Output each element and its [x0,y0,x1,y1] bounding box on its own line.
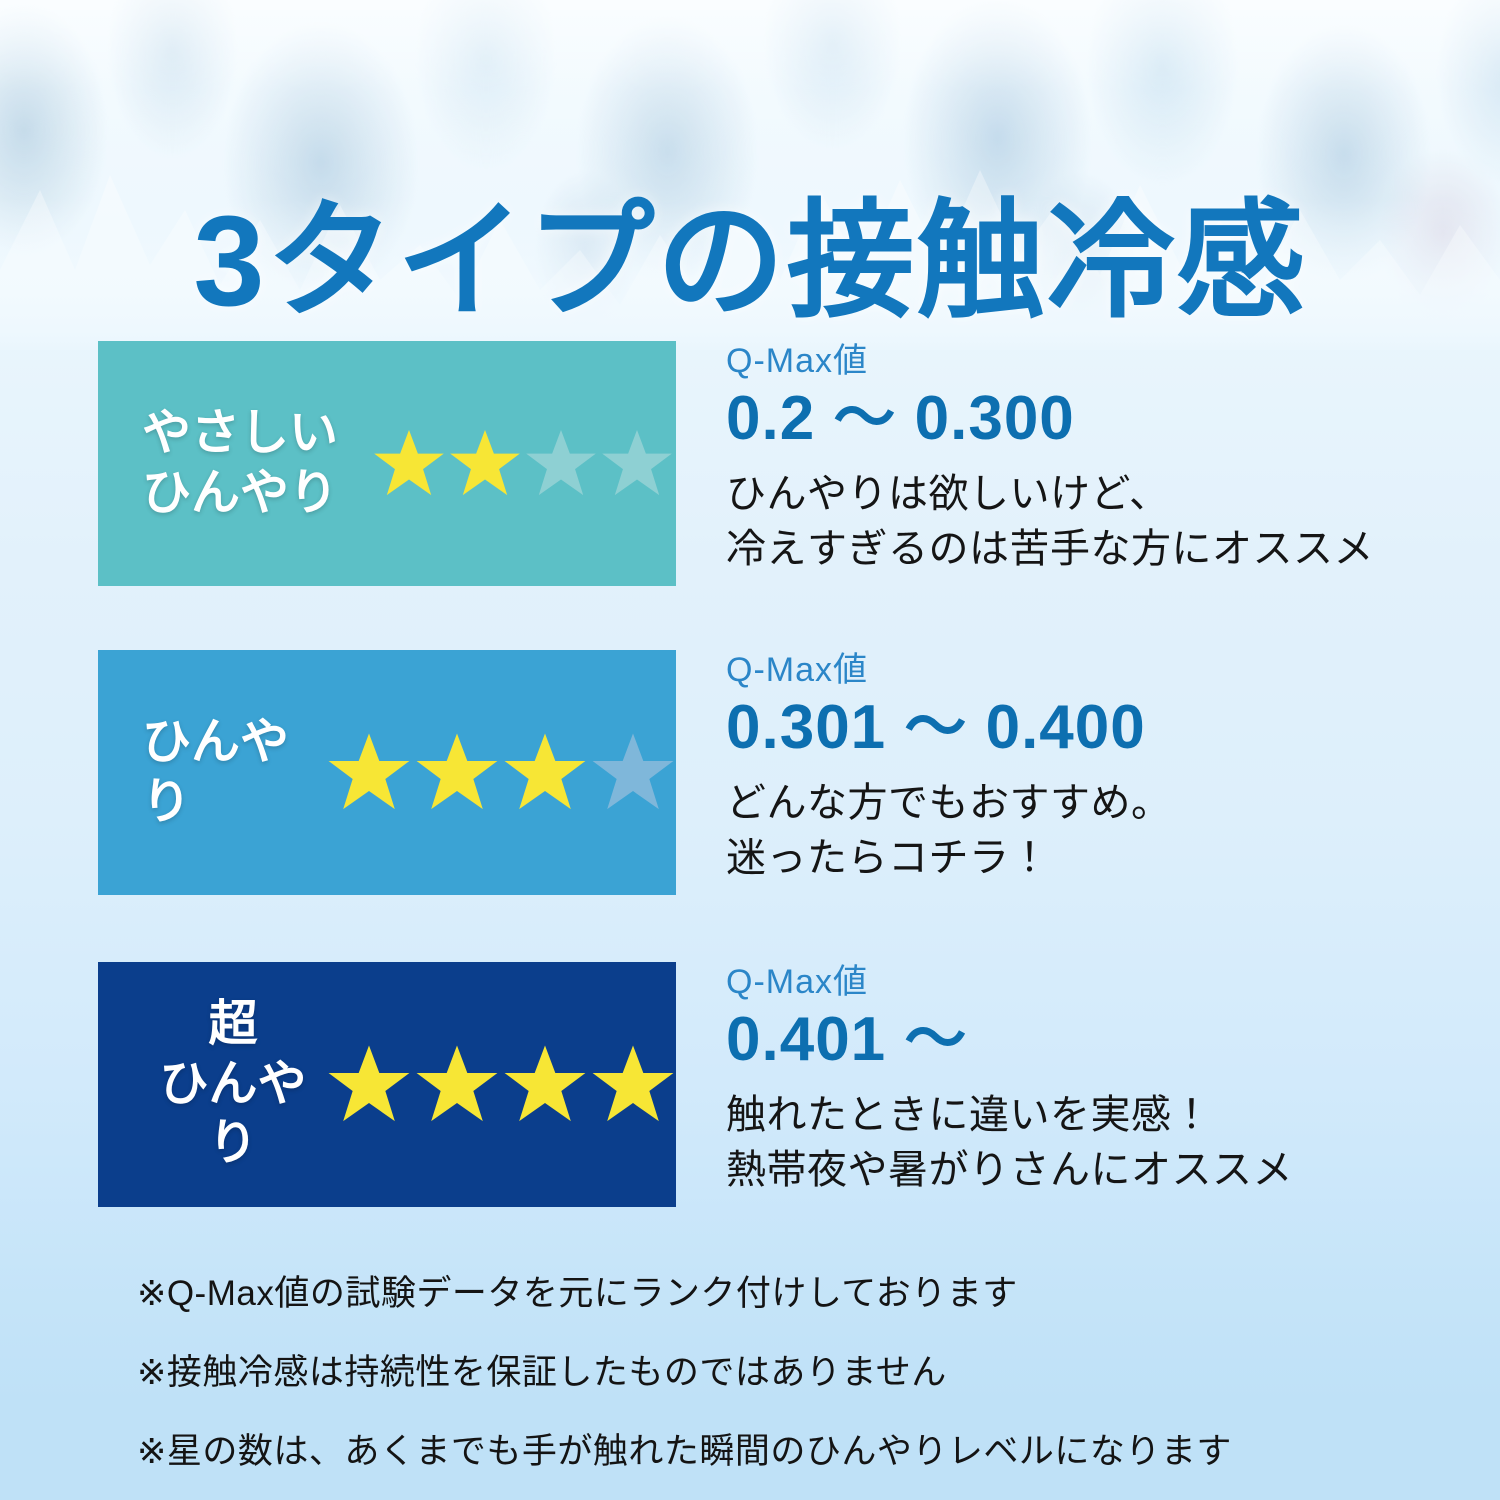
info-block-1: Q-Max値 0.2 〜 0.300 ひんやりは欲しいけど、 冷えすぎるのは苦手… [726,341,1486,578]
badge-label-1: やさしい ひんやり [98,404,370,524]
info-block-2: Q-Max値 0.301 〜 0.400 どんな方でもおすすめ。 迷ったらコチラ… [726,650,1486,887]
description-2: どんな方でもおすすめ。 迷ったらコチラ！ [726,776,1486,886]
footnote-1: ※Q-Max値の試験データを元にランク付けしております [137,1276,1417,1311]
description-3: 触れたときに違いを実感！ 熱帯夜や暑がりさんにオススメ [726,1088,1486,1198]
badge-label-3: 超 ひんやり [98,995,324,1174]
qmax-label-2: Q-Max値 [726,650,1486,691]
info-block-3: Q-Max値 0.401 〜 触れたときに違いを実感！ 熱帯夜や暑がりさんにオス… [726,962,1486,1199]
footnote-3: ※星の数は、あくまでも手が触れた瞬間のひんやりレベルになります [137,1434,1417,1469]
star-empty-icon [590,730,676,816]
star-filled-icon [326,730,412,816]
footnote-2: ※接触冷感は持続性を保証したものではありません [137,1355,1417,1390]
star-empty-icon [600,427,674,501]
qmax-label-1: Q-Max値 [726,341,1486,382]
badge-level-2: ひんやり [98,650,676,895]
star-filled-icon [414,1042,500,1128]
star-rating-3 [326,1042,676,1128]
star-filled-icon [448,427,522,501]
star-filled-icon [590,1042,676,1128]
page-title: 3タイプの接触冷感 [0,190,1500,333]
qmax-label-3: Q-Max値 [726,962,1486,1003]
description-1: ひんやりは欲しいけど、 冷えすぎるのは苦手な方にオススメ [726,467,1486,577]
qmax-value-1: 0.2 〜 0.300 [726,384,1486,453]
star-filled-icon [414,730,500,816]
star-rating-1 [372,427,674,501]
badge-label-2: ひんやり [98,713,324,833]
infographic-page: 3タイプの接触冷感 やさしい ひんやり Q-Max値 0.2 〜 0.300 ひ… [0,0,1500,1500]
star-filled-icon [502,1042,588,1128]
qmax-value-3: 0.401 〜 [726,1005,1486,1074]
badge-level-1: やさしい ひんやり [98,341,676,586]
star-rating-2 [326,730,676,816]
star-filled-icon [326,1042,412,1128]
star-empty-icon [524,427,598,501]
badge-level-3: 超 ひんやり [98,962,676,1207]
qmax-value-2: 0.301 〜 0.400 [726,693,1486,762]
star-filled-icon [372,427,446,501]
footnotes: ※Q-Max値の試験データを元にランク付けしております ※接触冷感は持続性を保証… [137,1276,1417,1469]
star-filled-icon [502,730,588,816]
